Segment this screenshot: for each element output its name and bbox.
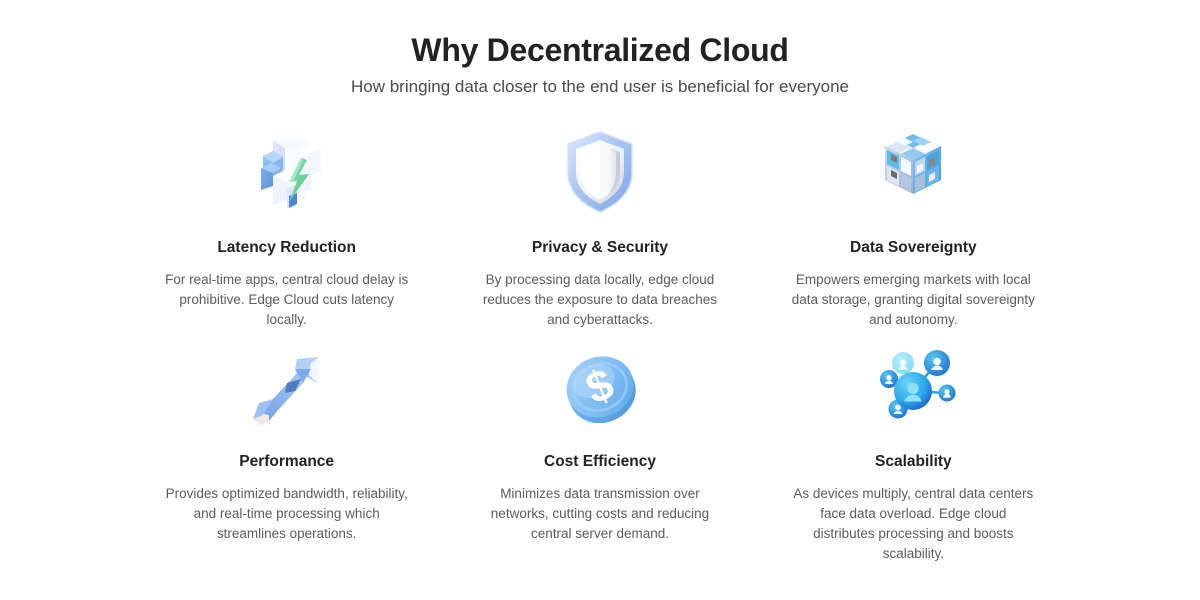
network-nodes-icon — [863, 338, 963, 436]
lightning-cross-icon — [237, 122, 337, 222]
feature-card-scalability: Scalability As devices multiply, central… — [757, 338, 1070, 564]
page-subtitle: How bringing data closer to the end user… — [0, 74, 1200, 100]
feature-card-latency-reduction: Latency Reduction For real-time apps, ce… — [130, 122, 443, 330]
card-description: As devices multiply, central data center… — [788, 484, 1038, 564]
card-title: Performance — [239, 452, 334, 472]
card-title: Latency Reduction — [217, 238, 356, 258]
card-title: Cost Efficiency — [544, 452, 656, 472]
page-title: Why Decentralized Cloud — [0, 28, 1200, 72]
card-description: Empowers emerging markets with local dat… — [788, 270, 1038, 330]
card-title: Privacy & Security — [532, 238, 668, 258]
dollar-coin-icon: $ — [550, 338, 650, 436]
card-description: Provides optimized bandwidth, reliabilit… — [162, 484, 412, 544]
feature-card-data-sovereignty: Data Sovereignty Empowers emerging marke… — [757, 122, 1070, 330]
card-description: For real-time apps, central cloud delay … — [162, 270, 412, 330]
feature-card-performance: Performance Provides optimized bandwidth… — [130, 338, 443, 564]
feature-grid-page: Why Decentralized Cloud How bringing dat… — [0, 0, 1200, 600]
feature-card-grid: Latency Reduction For real-time apps, ce… — [0, 122, 1200, 564]
card-description: By processing data locally, edge cloud r… — [475, 270, 725, 330]
feature-card-privacy-security: Privacy & Security By processing data lo… — [443, 122, 756, 330]
upward-arrow-icon — [237, 338, 337, 436]
page-header: Why Decentralized Cloud How bringing dat… — [0, 28, 1200, 100]
card-title: Data Sovereignty — [850, 238, 977, 258]
shield-icon — [550, 122, 650, 222]
card-description: Minimizes data transmission over network… — [475, 484, 725, 544]
feature-card-cost-efficiency: $ Cost Efficiency Minimizes data transmi… — [443, 338, 756, 564]
puzzle-cube-icon — [863, 122, 963, 222]
card-title: Scalability — [875, 452, 952, 472]
